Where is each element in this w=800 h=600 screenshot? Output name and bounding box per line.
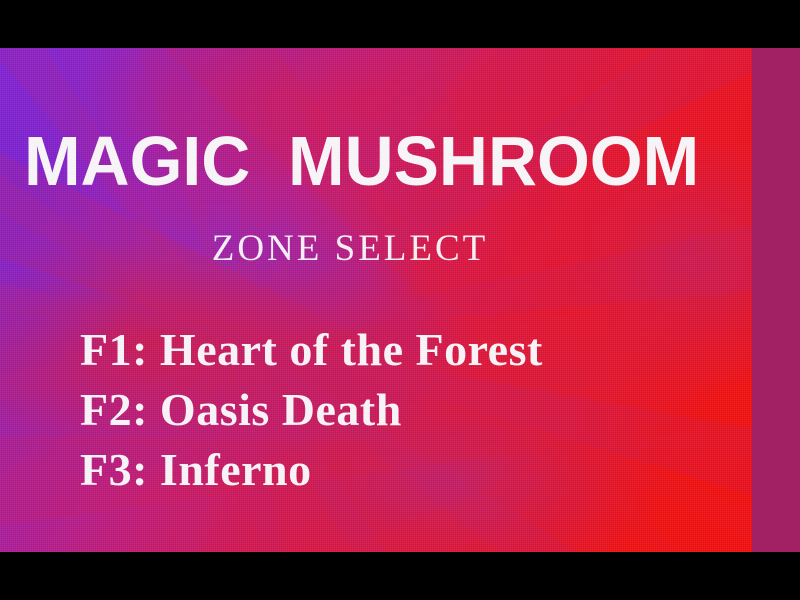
- game-screen: MAGIC MUSHROOM ZONE SELECT F1: Heart of …: [0, 0, 800, 600]
- letterbox-bottom-bar: [0, 552, 800, 600]
- menu-item-f1[interactable]: F1: Heart of the Forest: [80, 320, 700, 380]
- game-title: MAGIC MUSHROOM: [24, 126, 717, 196]
- zone-select-subtitle: ZONE SELECT: [0, 230, 700, 267]
- menu-item-f3[interactable]: F3: Inferno: [80, 440, 700, 500]
- zone-select-menu: F1: Heart of the Forest F2: Oasis Death …: [80, 320, 700, 500]
- screen-content: MAGIC MUSHROOM ZONE SELECT F1: Heart of …: [0, 48, 752, 552]
- menu-item-f2[interactable]: F2: Oasis Death: [80, 380, 700, 440]
- letterbox-top-bar: [0, 0, 800, 48]
- right-side-strip: [752, 48, 800, 552]
